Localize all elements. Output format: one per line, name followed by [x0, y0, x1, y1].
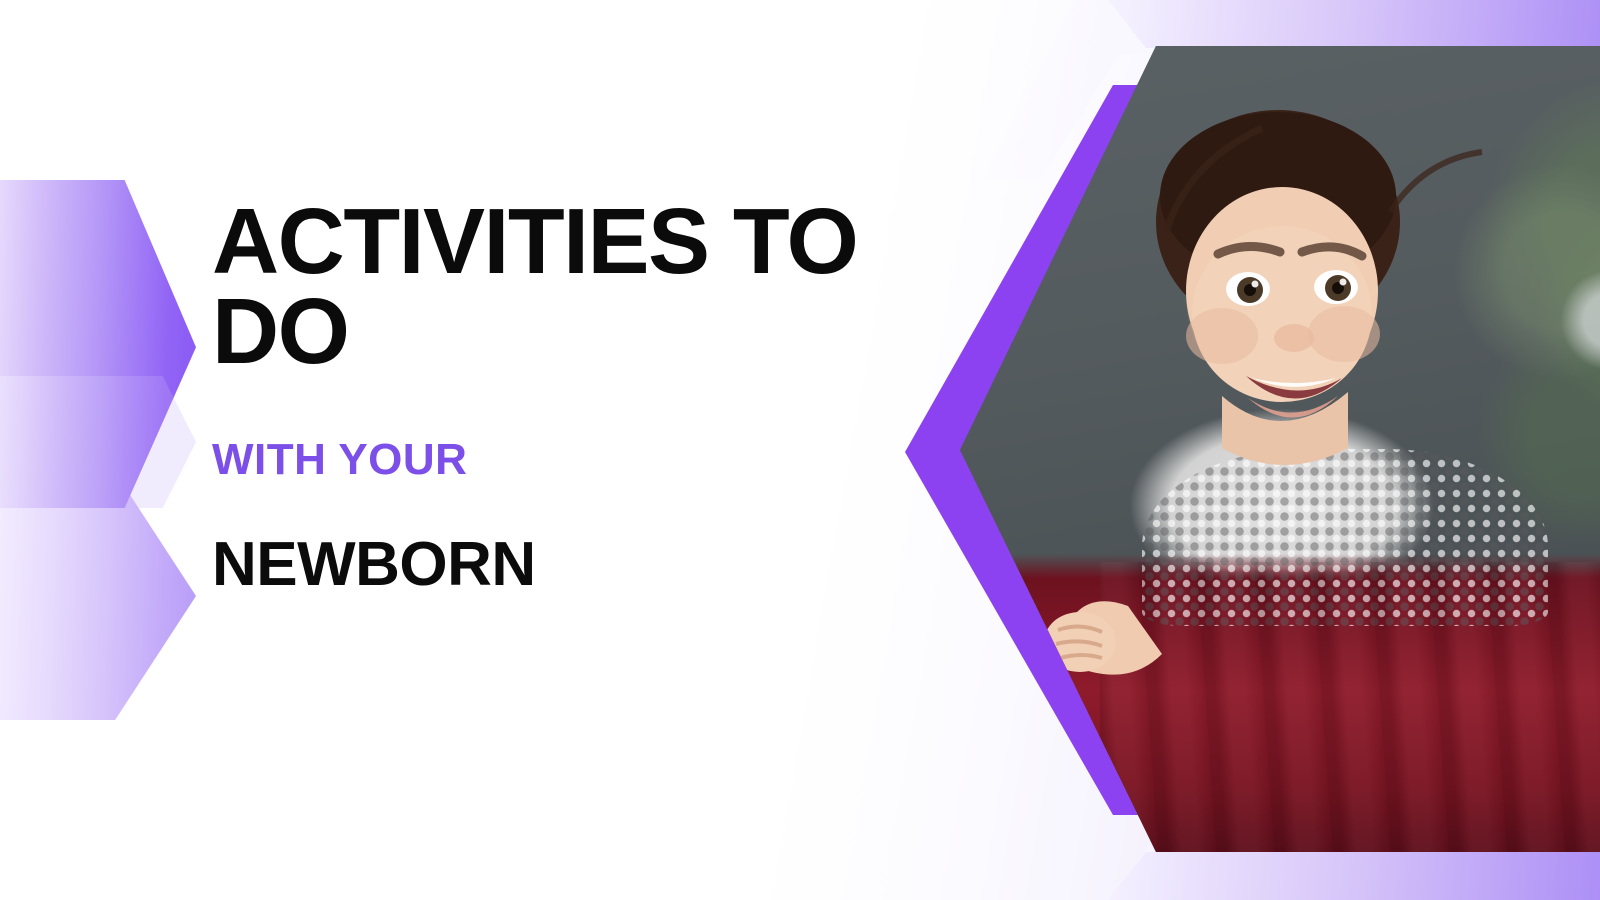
text-block: ACTIVITIES TO DO WITH YOUR NEWBORN: [212, 196, 872, 596]
page-title: ACTIVITIES TO DO: [212, 196, 872, 376]
subtitle: WITH YOUR: [212, 376, 872, 482]
baby-face-detail: [960, 46, 1600, 852]
dark-purple-hexagon-seam: [0, 376, 196, 508]
light-purple-hexagon: [0, 472, 196, 720]
keyword: NEWBORN: [212, 482, 872, 596]
baby-photo: [960, 46, 1600, 852]
baby-photo-image: [960, 46, 1600, 852]
slide-canvas: ACTIVITIES TO DO WITH YOUR NEWBORN Smili…: [0, 0, 1600, 900]
